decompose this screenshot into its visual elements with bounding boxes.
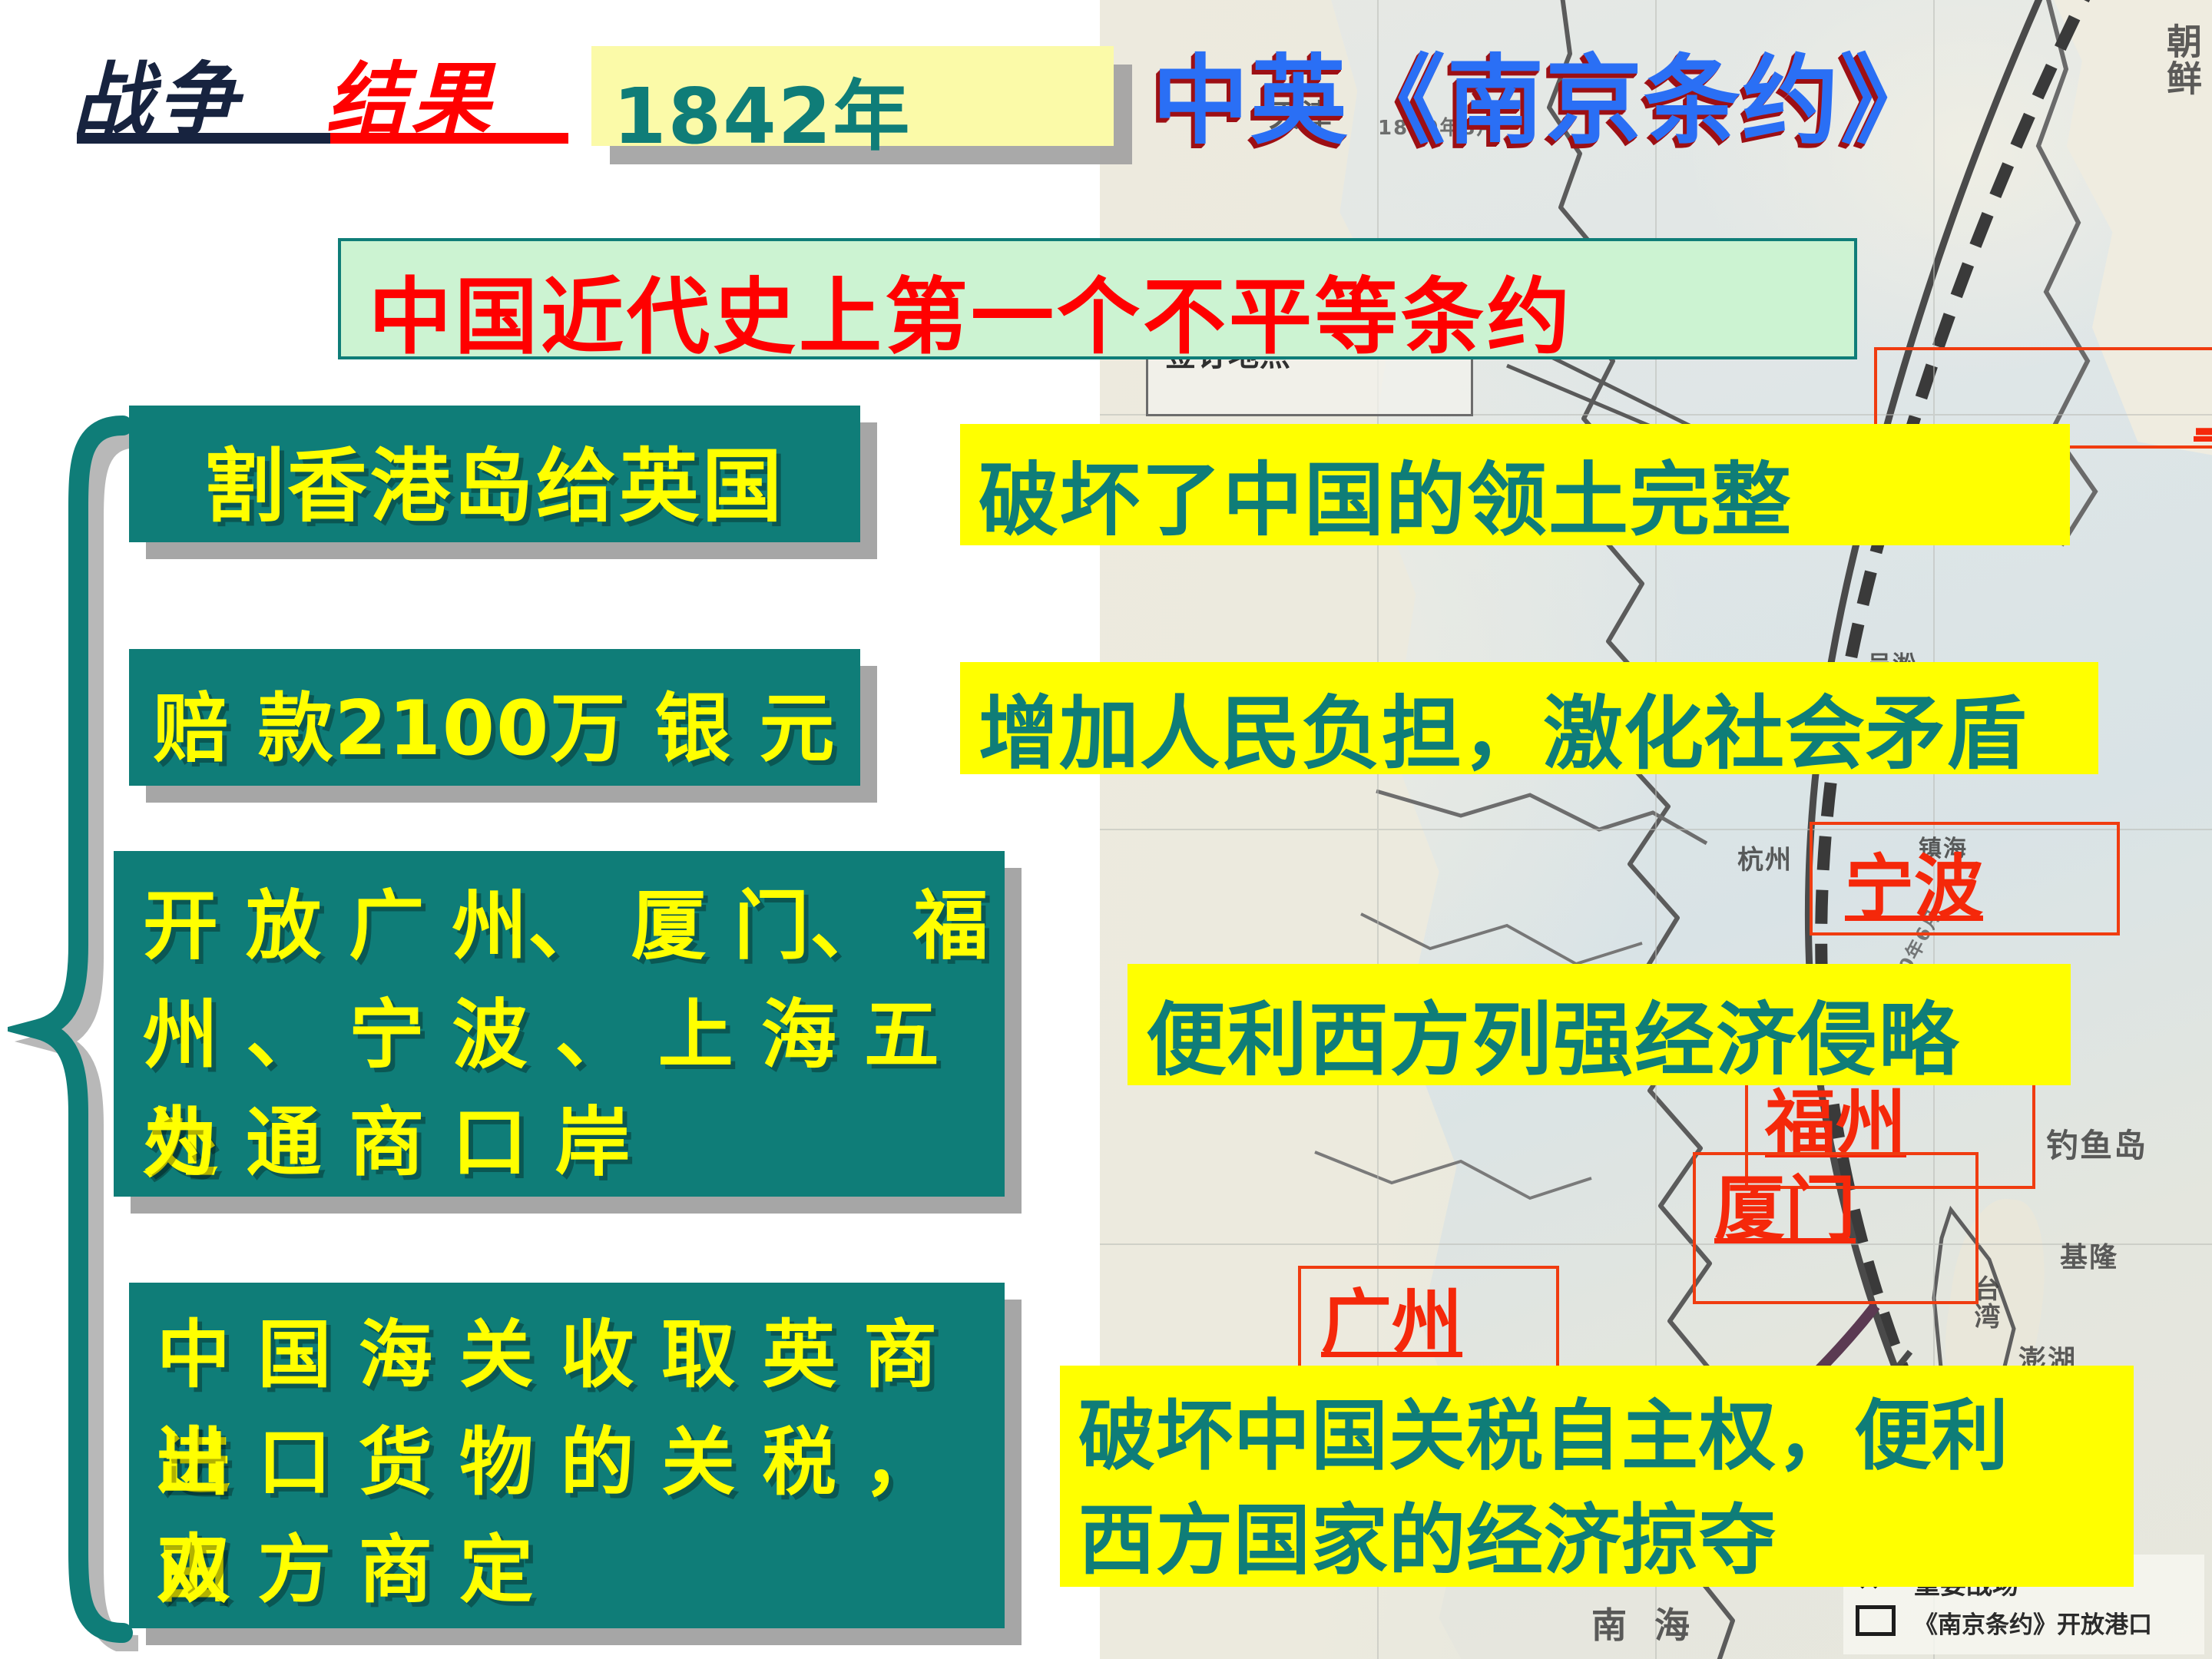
consequence-text-burden: 增加人民负担，激化社会矛盾	[979, 668, 2027, 784]
term-text-tariff-3: 双 方 商 定	[157, 1510, 1005, 1617]
consequence-text-economic: 便利西方列强经济侵略	[1146, 975, 1960, 1091]
slide-root: 朝鲜 天津 杭州 钓鱼岛 澎湖 基隆 南 海 镇海 吴淞 台湾 1840年8月 …	[0, 0, 2212, 1659]
legend-port-icon	[1856, 1605, 1896, 1636]
legend-port-label: 《南京条约》开放港口	[1914, 1605, 2152, 1640]
war-result-underline-red	[330, 133, 568, 144]
term-box-indemnity: 赔 款2100万 银 元	[129, 649, 860, 786]
map-label-hangzhou: 杭州	[1737, 839, 1793, 876]
term-text-indemnity: 赔 款2100万 银 元	[129, 667, 860, 777]
consequence-text-tariff-right-2: 西方国家的经济掠夺	[1078, 1478, 1777, 1589]
map-label-diaoyudao: 钓鱼岛	[2046, 1120, 2147, 1167]
term-text-cede-hongkong: 割香港岛给英国	[129, 421, 860, 537]
port-label-shanghai: 上海	[2194, 355, 2212, 451]
war-result-underline-dark	[77, 133, 330, 144]
port-label-ningbo: 宁波	[1845, 831, 1983, 931]
year-box: 1842年	[591, 46, 1114, 146]
consequence-banner-tariff-right: 破坏中国关税自主权，便利 西方国家的经济掠夺	[1060, 1366, 2134, 1587]
term-box-tariff: 中 国 海 关 收 取 英 商 进 出 口 货 物 的 关 税 ， 由 双 方 …	[129, 1283, 1005, 1628]
consequence-text-tariff-right-1: 破坏中国关税自主权，便利	[1078, 1373, 2009, 1485]
consequence-banner-economic: 便利西方列强经济侵略	[1128, 964, 2071, 1085]
war-result-heading: 战争 结果	[73, 35, 565, 134]
consequence-text-territory: 破坏了中国的领土完整	[979, 435, 1793, 551]
page-title: 中英《南京条约》	[1152, 23, 1939, 163]
term-box-open-ports: 开 放 广 州、 厦 门、 福 州 、 宁 波 、 上 海 五 处 为 通 商 …	[114, 851, 1005, 1197]
map-label-jilong: 基隆	[2060, 1235, 2118, 1275]
subtitle-banner: 中国近代史上第一个不平等条约	[338, 238, 1857, 359]
consequence-banner-burden: 增加人民负担，激化社会矛盾	[960, 662, 2098, 774]
map-label-korea: 朝鲜	[2157, 23, 2207, 97]
map-label-nanhai: 南 海	[1591, 1598, 1697, 1648]
term-box-cede-hongkong: 割香港岛给英国	[129, 406, 860, 542]
year-label: 1842年	[613, 54, 911, 165]
port-label-guangzhou: 广州	[1321, 1266, 1462, 1368]
subtitle-text: 中国近代史上第一个不平等条约	[369, 250, 1573, 370]
consequence-banner-territory: 破坏了中国的领土完整	[960, 424, 2070, 545]
term-text-open-ports-3: 为 通 商 口 岸	[143, 1081, 1005, 1190]
term-text-open-ports-1: 开 放 广 州、 厦 门、 福	[143, 865, 1005, 974]
port-label-xiamen: 厦门	[1714, 1152, 1856, 1254]
